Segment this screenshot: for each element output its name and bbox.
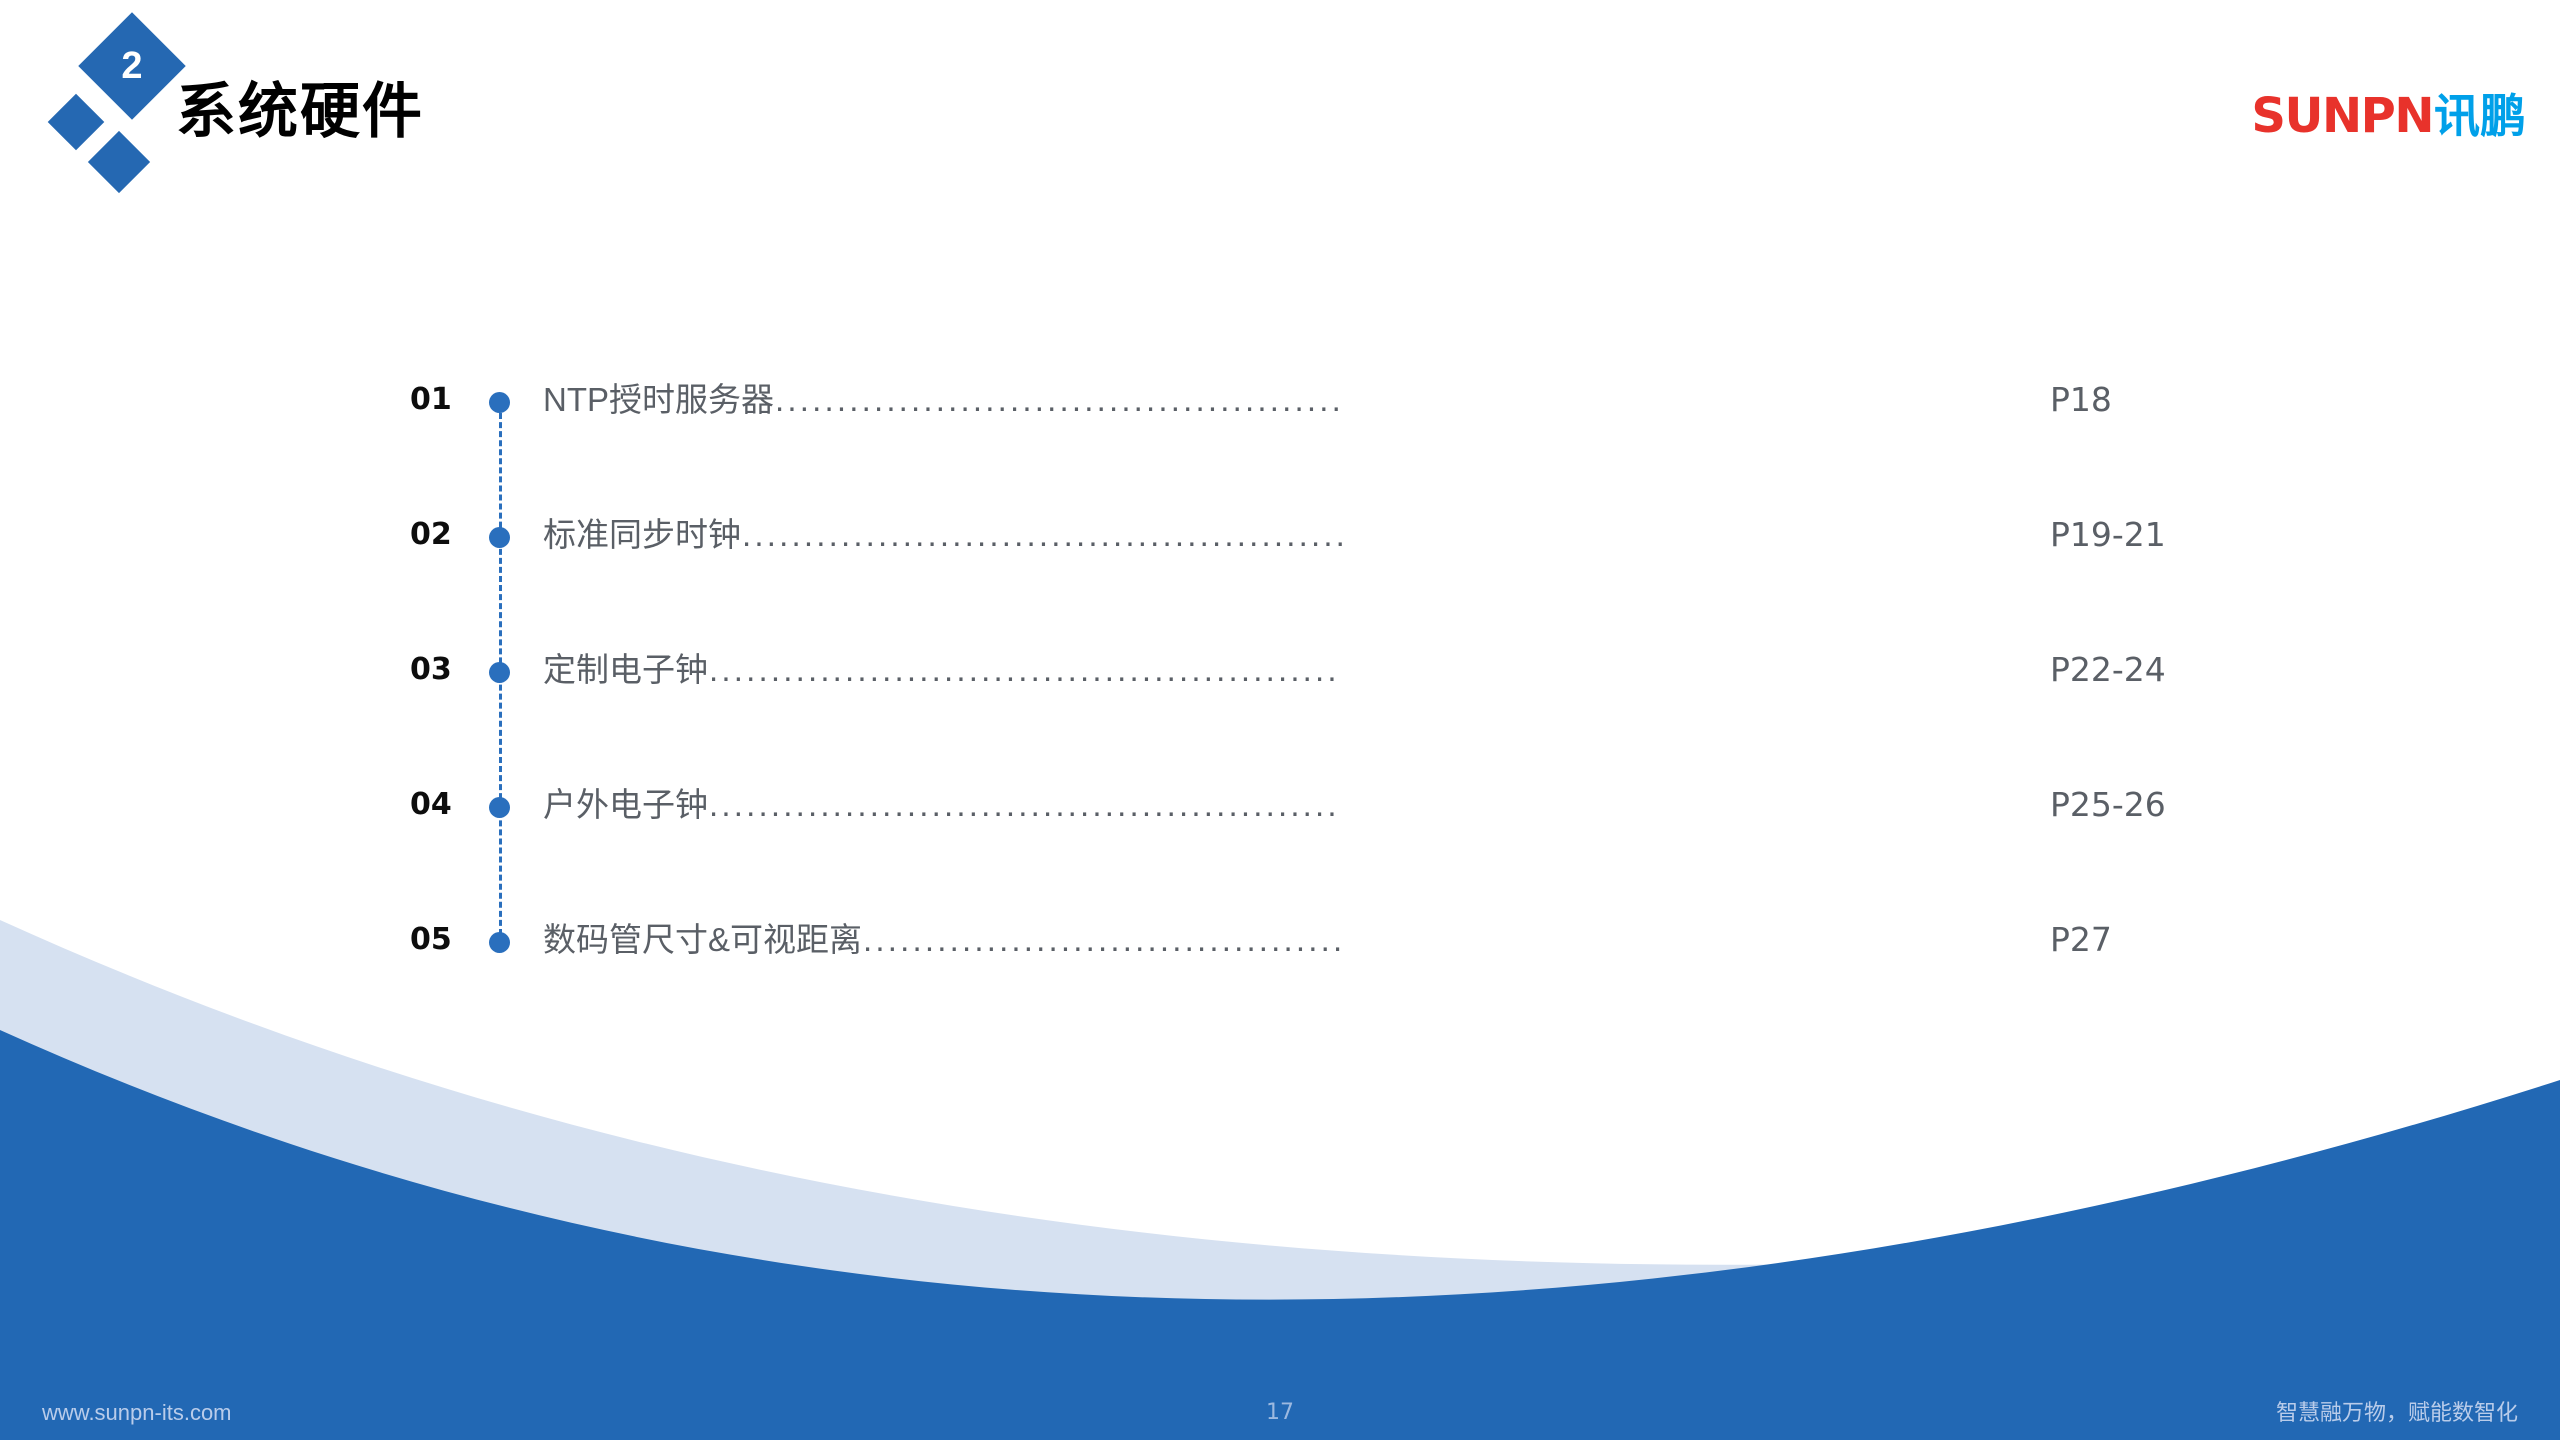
toc-label-wrap: 数码管尺寸&可视距离 .............................… (543, 918, 1342, 962)
toc-number: 03 (410, 648, 470, 692)
toc-dot-leader: ........................................… (775, 378, 1342, 422)
bullet-dot-icon (489, 797, 510, 818)
toc-row-04[interactable]: 04 户外电子钟 ...............................… (0, 783, 2560, 839)
toc-page-ref: P22-24 (2050, 648, 2166, 692)
toc-page-ref: P18 (2050, 378, 2112, 422)
toc-page-ref: P19-21 (2050, 513, 2166, 557)
footer-slogan: 智慧融万物，赋能数智化 (2276, 1398, 2518, 1428)
toc-label-wrap: 定制电子钟 ..................................… (543, 648, 1342, 692)
toc-label-wrap: 户外电子钟 ..................................… (543, 783, 1342, 827)
toc-row-01[interactable]: 01 NTP授时服务器 ............................… (0, 378, 2560, 434)
bullet-dot-icon (489, 392, 510, 413)
toc-number: 04 (410, 783, 470, 827)
toc-item-label: 标准同步时钟 (543, 513, 741, 557)
slide-footer: www.sunpn-its.com 17 智慧融万物，赋能数智化 (0, 1386, 2560, 1440)
toc-item-label: 户外电子钟 (543, 783, 708, 827)
footer-page-number: 17 (0, 1398, 2560, 1428)
toc-list: 01 NTP授时服务器 ............................… (0, 0, 2560, 1440)
toc-number: 02 (410, 513, 470, 557)
toc-label-wrap: 标准同步时钟 .................................… (543, 513, 1342, 557)
toc-page-ref: P25-26 (2050, 783, 2166, 827)
toc-label-wrap: NTP授时服务器 ...............................… (543, 378, 1342, 422)
toc-dot-leader: ........................................… (709, 783, 1342, 827)
slide-root: 2 系统硬件 SUNPN 讯鹏 01 NTP授时服务器 ............… (0, 0, 2560, 1440)
toc-row-05[interactable]: 05 数码管尺寸&可视距离 ..........................… (0, 918, 2560, 974)
toc-dot-leader: ........................................… (742, 513, 1342, 557)
toc-item-label: NTP授时服务器 (543, 378, 774, 422)
toc-number: 01 (410, 378, 470, 422)
toc-dot-leader: ........................................… (863, 918, 1342, 962)
bullet-dot-icon (489, 932, 510, 953)
toc-row-03[interactable]: 03 定制电子钟 ...............................… (0, 648, 2560, 704)
toc-row-02[interactable]: 02 标准同步时钟 ..............................… (0, 513, 2560, 569)
toc-page-ref: P27 (2050, 918, 2112, 962)
bullet-dot-icon (489, 662, 510, 683)
toc-item-label: 定制电子钟 (543, 648, 708, 692)
toc-item-label: 数码管尺寸&可视距离 (543, 918, 862, 962)
toc-number: 05 (410, 918, 470, 962)
toc-dot-leader: ........................................… (709, 648, 1342, 692)
bullet-dot-icon (489, 527, 510, 548)
